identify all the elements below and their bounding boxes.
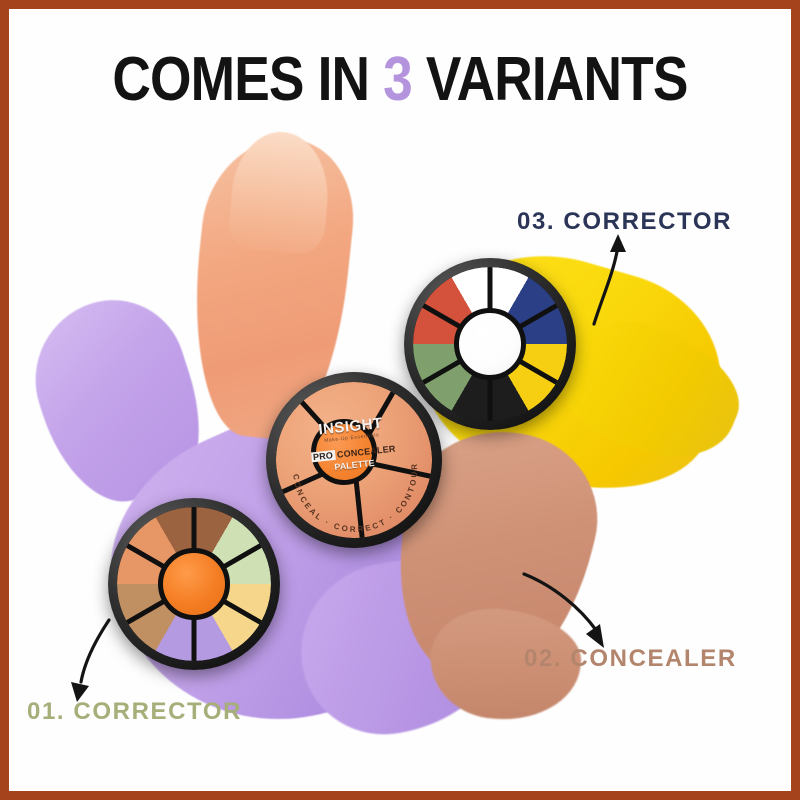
headline-after: VARIANTS [412, 45, 688, 114]
product-variants-graphic: COMES IN 3 VARIANTS [0, 0, 800, 800]
palette-center-pan-03 [454, 308, 526, 380]
page-title: COMES IN 3 VARIANTS [56, 44, 744, 115]
palette-variant-03[interactable] [404, 258, 576, 430]
variant-02-label: 02. CONCEALER [524, 645, 737, 673]
headline-before: COMES IN [112, 45, 383, 114]
headline-variant-count: 3 [383, 45, 412, 114]
palette-center-pan-01 [158, 548, 230, 620]
variant-01-label: 01. CORRECTOR [27, 698, 242, 726]
arrow-to-variant-01-icon [55, 616, 135, 710]
variant-03-label: 03. CORRECTOR [517, 208, 732, 236]
arrow-to-variant-03-icon [588, 232, 658, 328]
